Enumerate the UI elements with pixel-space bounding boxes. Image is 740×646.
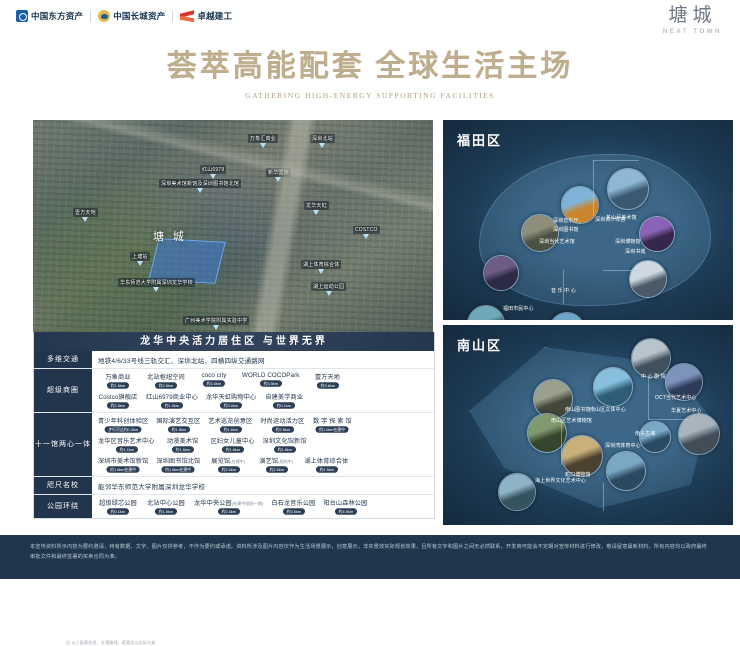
facilities-table-title: 龙华中央活力居住区 与世界无界 (34, 332, 434, 351)
facility-chip[interactable]: 北站中心公园约1.5km (146, 498, 186, 515)
aerial-map-label[interactable]: 新华国际 (266, 168, 291, 177)
table-text-line: 能邻华东师范大学附属深圳龙华学校 (98, 481, 428, 491)
facility-chip[interactable]: 演艺馆(规划中)约2.5km (256, 456, 296, 473)
district-node-label: 南山区艺术博物馆 (551, 417, 592, 424)
district-connector-line (561, 421, 562, 465)
district-photo-thumb (468, 306, 504, 320)
aerial-map-label[interactable]: 龙华天虹 (304, 201, 329, 210)
facility-distance: 约1.5km (155, 508, 177, 514)
facility-distance: 约2.0km (217, 466, 239, 472)
facility-chip[interactable]: 青少年科创体验区步行可达约0.3km (98, 416, 148, 433)
facility-name: 国际演艺交互区 (156, 416, 200, 425)
table-row-label: 超级商圈 (34, 369, 92, 412)
facility-distance: 约1.0km在建中 (316, 426, 349, 432)
facility-chip[interactable]: 深圳文化馆新馆约1.8km (263, 436, 307, 453)
table-row: 多维交通地铁4/6/33号线三轨交汇、深圳北站、四横四纵交通路网 (34, 351, 434, 369)
facility-name: 万象商业 (105, 372, 130, 381)
facility-distance: 约1.8km (274, 446, 296, 452)
facility-distance: 约1.6km (107, 382, 129, 388)
facilities-table-body: 多维交通地铁4/6/33号线三轨交汇、深圳北站、四横四纵交通路网超级商圈万象商业… (34, 351, 434, 518)
district-photo-thumb (607, 452, 645, 490)
facility-distance: 约4.5km (334, 508, 356, 514)
facility-chip[interactable]: 红山6979商业中心约1.9km (146, 392, 198, 409)
aerial-map-label[interactable]: 壹方天地 (73, 208, 98, 217)
facility-chip[interactable]: 数 字 探 索 馆约1.0km在建中 (312, 416, 352, 433)
table-row-label: 公园环绕 (34, 495, 92, 518)
top-bar: 中国东方资产 中国长城资产 卓越建工 塘城 NEXT TOWN (0, 0, 740, 40)
table-chip-line: 超级绿芯公园约0.1km北站中心公园约1.5km龙华中央公园(在建中规划一期)约… (98, 498, 428, 515)
table-chip-line: 万象商业约1.6km北站枢纽空间约2.5kmcoco city约3.0kmWOR… (98, 372, 428, 389)
district-connector-line (648, 377, 649, 419)
facility-chip[interactable]: 区妇女儿童中心约1.6km (211, 436, 255, 453)
facility-name: 动漫美术馆 (167, 436, 198, 445)
facility-name: 青少年科创体验区 (98, 416, 148, 425)
table-row-label: 咫尺名校 (34, 477, 92, 494)
facility-chip[interactable]: coco city约3.0km (194, 372, 234, 389)
facility-name: 深圳文化馆新馆 (263, 436, 307, 445)
facility-distance: 步行可达约0.3km (105, 426, 142, 432)
district-node-label: 南山区文体中心 (590, 406, 626, 413)
facility-chip[interactable]: 艺术巡览创意区约1.6km (208, 416, 252, 433)
aerial-map-label[interactable]: COSTCO (353, 226, 380, 234)
district-node-label: 海上世界文化艺术中心 (535, 477, 586, 484)
facility-chip[interactable]: 时尚运动活力区约2.5km (260, 416, 304, 433)
facility-chip[interactable]: 壹方天地约3.6km (307, 372, 347, 389)
facility-distance: 约2.5km (155, 382, 177, 388)
facility-note: (规划中) (278, 459, 293, 464)
table-chip-line: 深圳市美术馆新馆约1.6km在建中深圳图书馆北馆约1.6km在建中展览馆(在建中… (98, 456, 428, 473)
district-photo-node[interactable] (629, 260, 667, 298)
facility-name: 阳台山森林公园 (323, 498, 367, 507)
facility-name: 白石龙音乐公园 (271, 498, 315, 507)
logo-orient-asset: 中国东方资产 (16, 10, 83, 22)
facility-name: Costco旗舰店 (99, 392, 138, 401)
facility-distance: 约1.1km (115, 446, 137, 452)
facility-chip[interactable]: 北站枢纽空间约2.5km (146, 372, 186, 389)
facility-chip[interactable]: WORLD COCOPark约3.5km (242, 372, 299, 389)
facility-note: (在建中规划一期) (232, 501, 264, 506)
district-photo-node[interactable] (549, 312, 585, 320)
district-node-label: 中 心 剧 院 (641, 373, 666, 380)
district-connector-line (648, 419, 688, 420)
district-panel-nanshan[interactable]: 南山区 南山图书馆南山区文体中心南山区艺术博物馆中 心 剧 院OCT当代艺术中心… (443, 325, 733, 525)
aerial-project-label: 塘 城 (153, 228, 187, 244)
district-connector-line (603, 483, 604, 511)
table-row-body: 万象商业约1.6km北站枢纽空间约2.5kmcoco city约3.0kmWOR… (92, 369, 434, 412)
table-row: 十一馆两心一体青少年科创体验区步行可达约0.3km国际演艺交互区约1.5km艺术… (34, 413, 434, 477)
logo-excellence-construction: 卓越建工 (180, 10, 232, 22)
brand-name-en: NEXT TOWN (663, 29, 722, 35)
facility-name: 壹方天地 (315, 372, 340, 381)
facility-distance: 约0.1km (273, 402, 295, 408)
district-node-label: 深圳音乐厅、 (553, 217, 584, 224)
headline-block: 荟萃高能配套 全球生活主场 GATHERING HIGH-ENERGY SUPP… (0, 48, 740, 100)
brand-name-cn: 塘城 (663, 6, 722, 27)
table-text-line: 地铁4/6/33号线三轨交汇、深圳北站、四横四纵交通路网 (98, 355, 428, 365)
aerial-map-label[interactable]: 广州美术学院附属实验中学 (183, 316, 249, 325)
facility-distance: 约1.6km (219, 426, 241, 432)
facility-distance: 约1.6km在建中 (107, 466, 140, 472)
district-photo-node[interactable] (606, 451, 646, 491)
table-chip-line: Costco旗舰店约2.5km红山6979商业中心约1.9km龙华天虹购物中心约… (98, 392, 428, 409)
table-row-body: 能邻华东师范大学附属深圳龙华学校 (92, 477, 434, 494)
facility-chip[interactable]: 深圳图书馆北馆约1.6km在建中 (156, 456, 200, 473)
facility-distance: 约3.0km (203, 380, 225, 386)
facility-distance: 约2.5km (271, 426, 293, 432)
aerial-map-label[interactable]: 红山6979 (200, 165, 226, 174)
facility-chip[interactable]: 龙华中央公园(在建中规划一期)约2.0km (194, 498, 263, 515)
page-title: 荟萃高能配套 全球生活主场 (0, 48, 740, 86)
district-photo-node[interactable] (607, 168, 649, 210)
district-node-label: 南头古城 (635, 430, 655, 437)
table-fine-note: 注:以上配套信息、交通路线、距离均以实际为准 (66, 640, 466, 646)
logo-divider (172, 11, 173, 22)
district-photo-node[interactable] (639, 421, 671, 453)
facility-chip[interactable]: 国际演艺交互区约1.5km (156, 416, 200, 433)
facilities-table: 龙华中央活力居住区 与世界无界 多维交通地铁4/6/33号线三轨交汇、深圳北站、… (33, 332, 435, 519)
facility-chip[interactable]: Costco旗舰店约2.5km (98, 392, 138, 409)
facility-chip[interactable]: 自建美学商业约0.1km (264, 392, 304, 409)
district-connector-line (593, 160, 639, 161)
facility-name: WORLD COCOPark (242, 372, 299, 379)
district-title-futian: 福田区 (457, 130, 502, 149)
facility-name: 湖上体育综合体 (304, 456, 348, 465)
logo-excellence-label: 卓越建工 (197, 10, 232, 22)
legal-disclaimer: 本宣传资料所示内容为要约邀请，持有数据、文字、图片仅供参考，不作为要约或承诺。资… (0, 535, 740, 563)
facility-name: coco city (202, 372, 227, 379)
facility-name: 区妇女儿童中心 (211, 436, 255, 445)
aerial-map-label[interactable]: 深圳美术馆新馆及深圳图书馆北馆 (159, 179, 241, 188)
facility-distance: 约3.0km (220, 402, 242, 408)
facility-distance: 约3.5km (260, 380, 282, 386)
district-node-label: 深圳当代艺术馆 (539, 238, 575, 245)
excellence-construction-icon (180, 10, 194, 22)
facility-distance: 约1.9km (161, 402, 183, 408)
page-subtitle: GATHERING HIGH-ENERGY SUPPORTING FACILIT… (0, 91, 740, 100)
table-chip-line: 青少年科创体验区步行可达约0.3km国际演艺交互区约1.5km艺术巡览创意区约1… (98, 416, 428, 433)
left-column: 塘 城 万象汇商业深圳北站红山6979新华国际深圳美术馆新馆及深圳图书馆北馆壹方… (33, 120, 433, 519)
district-photo-node[interactable] (631, 338, 671, 378)
facility-name: 深圳图书馆北馆 (156, 456, 200, 465)
table-row-body: 超级绿芯公园约0.1km北站中心公园约1.5km龙华中央公园(在建中规划一期)约… (92, 495, 434, 518)
aerial-map-label[interactable]: 湖上运动公园 (311, 282, 346, 291)
district-node-label: 福田市民中心 (503, 305, 534, 312)
facility-distance: 约2.0km (218, 508, 240, 514)
facility-name: 时尚运动活力区 (260, 416, 304, 425)
facility-name: 龙华中央公园(在建中规划一期) (194, 498, 263, 507)
facility-name: 龙华区音乐艺术中心 (98, 436, 155, 445)
district-connector-line (593, 160, 594, 216)
facility-chip[interactable]: 深圳市美术馆新馆约1.6km在建中 (98, 456, 148, 473)
facility-name: 演艺馆(规划中) (259, 456, 293, 465)
district-node-label: 深圳青少年宫 (595, 216, 626, 223)
district-photo-thumb (550, 313, 584, 320)
aerial-map-label[interactable]: 湖上体育综合体 (301, 260, 341, 269)
partner-logos: 中国东方资产 中国长城资产 卓越建工 (16, 10, 232, 22)
district-connector-line (603, 270, 645, 271)
facility-name: 自建美学商业 (265, 392, 303, 401)
facility-distance: 约3.5km (282, 508, 304, 514)
table-row-body: 青少年科创体验区步行可达约0.3km国际演艺交互区约1.5km艺术巡览创意区约1… (92, 413, 434, 476)
brochure-page: 中国东方资产 中国长城资产 卓越建工 塘城 NEXT TOWN 荟萃高能配套 全… (0, 0, 740, 579)
district-node-label: 深圳图书馆 (553, 226, 579, 233)
facility-distance: 约2.5km (107, 402, 129, 408)
district-node-label: 深圳书城 (625, 248, 645, 255)
district-photo-thumb (679, 414, 719, 454)
orient-asset-icon (16, 10, 28, 22)
facility-distance: 约3.6km (317, 382, 339, 388)
table-row: 超级商圈万象商业约1.6km北站枢纽空间约2.5kmcoco city约3.0k… (34, 369, 434, 413)
facility-chip[interactable]: 万象商业约1.6km (98, 372, 138, 389)
district-photo-node[interactable] (639, 216, 675, 252)
logo-orient-label: 中国东方资产 (31, 10, 83, 22)
district-photo-thumb (608, 169, 648, 209)
facility-name: 北站中心公园 (147, 498, 185, 507)
district-photo-thumb (562, 436, 602, 476)
aerial-map[interactable]: 塘 城 万象汇商业深圳北站红山6979新华国际深圳美术馆新馆及深圳图书馆北馆壹方… (33, 120, 433, 332)
district-photo-node[interactable] (483, 255, 519, 291)
district-panel-futian[interactable]: 福田区 关山月美术馆深圳音乐厅、深圳图书馆深圳当代艺术馆深圳博物馆深圳青少年宫深… (443, 120, 733, 320)
district-connector-line (563, 270, 564, 304)
facility-distance: 约1.5km (315, 466, 337, 472)
facility-name: 龙华天虹购物中心 (206, 392, 256, 401)
facility-chip[interactable]: 湖上体育综合体约1.5km (304, 456, 348, 473)
project-plot-highlight (148, 238, 226, 284)
facility-chip[interactable]: 动漫美术馆约1.6km (163, 436, 203, 453)
facility-chip[interactable]: 龙华区音乐艺术中心约1.1km (98, 436, 155, 453)
district-photo-thumb (499, 474, 535, 510)
logo-great-wall-label: 中国长城资产 (113, 10, 165, 22)
district-node-label: 深圳湾体育中心 (605, 442, 641, 449)
project-brand: 塘城 NEXT TOWN (663, 6, 722, 35)
district-node-label: 华夏艺术中心 (671, 407, 702, 414)
district-title-nanshan: 南山区 (457, 335, 502, 354)
facility-name: 数 字 探 索 馆 (313, 416, 352, 425)
table-row-label: 多维交通 (34, 351, 92, 368)
aerial-map-label[interactable]: 深圳北站 (310, 134, 335, 143)
great-wall-asset-icon (98, 10, 110, 22)
district-photo-node[interactable] (467, 305, 505, 320)
table-row: 咫尺名校能邻华东师范大学附属深圳龙华学校 (34, 477, 434, 495)
district-node-label: 深圳博物馆 (615, 238, 641, 245)
district-photo-node[interactable] (498, 473, 536, 511)
logo-great-wall-asset: 中国长城资产 (98, 10, 165, 22)
table-chip-line: 龙华区音乐艺术中心约1.1km动漫美术馆约1.6km区妇女儿童中心约1.6km深… (98, 436, 428, 453)
district-photo-thumb (632, 339, 670, 377)
table-row-body: 地铁4/6/33号线三轨交汇、深圳北站、四横四纵交通路网 (92, 351, 434, 368)
facility-note: (在建中) (230, 459, 245, 464)
district-photo-thumb (640, 422, 670, 452)
table-row: 公园环绕超级绿芯公园约0.1km北站中心公园约1.5km龙华中央公园(在建中规划… (34, 495, 434, 518)
facility-distance: 约1.5km (167, 426, 189, 432)
facility-distance: 约0.1km (107, 508, 129, 514)
facility-name: 展览馆(在建中) (211, 456, 245, 465)
table-row-label: 十一馆两心一体 (34, 413, 92, 476)
district-photo-thumb (630, 261, 666, 297)
aerial-map-label[interactable]: 华东师范大学附属深圳龙华学校 (118, 278, 195, 287)
facility-name: 艺术巡览创意区 (208, 416, 252, 425)
facility-distance: 约1.6km (222, 446, 244, 452)
aerial-map-label[interactable]: 万象汇商业 (248, 134, 278, 143)
facility-chip[interactable]: 阳台山森林公园约4.5km (323, 498, 367, 515)
district-node-label: 南山图书馆 (565, 406, 591, 413)
facility-chip[interactable]: 龙华天虹购物中心约3.0km (206, 392, 256, 409)
facility-name: 超级绿芯公园 (99, 498, 137, 507)
facility-distance: 约2.5km (265, 466, 287, 472)
legal-footer: 本宣传资料所示内容为要约邀请，持有数据、文字、图片仅供参考，不作为要约或承诺。资… (0, 535, 740, 579)
facility-name: 红山6979商业中心 (146, 392, 198, 401)
facility-chip[interactable]: 展览馆(在建中)约2.0km (208, 456, 248, 473)
district-photo-thumb (484, 256, 518, 290)
facility-distance: 约1.6km在建中 (162, 466, 195, 472)
facility-distance: 约1.6km (172, 446, 194, 452)
district-photo-node[interactable] (593, 367, 633, 407)
aerial-map-label[interactable]: 上塘站 (130, 252, 150, 261)
district-photo-thumb (640, 217, 674, 251)
district-photo-thumb (594, 368, 632, 406)
district-node-label: OCT当代艺术中心 (655, 394, 696, 401)
facility-chip[interactable]: 白石龙音乐公园约3.5km (271, 498, 315, 515)
facility-name: 北站枢纽空间 (147, 372, 185, 381)
facility-name: 深圳市美术馆新馆 (98, 456, 148, 465)
logo-divider (90, 11, 91, 22)
facility-chip[interactable]: 超级绿芯公园约0.1km (98, 498, 138, 515)
